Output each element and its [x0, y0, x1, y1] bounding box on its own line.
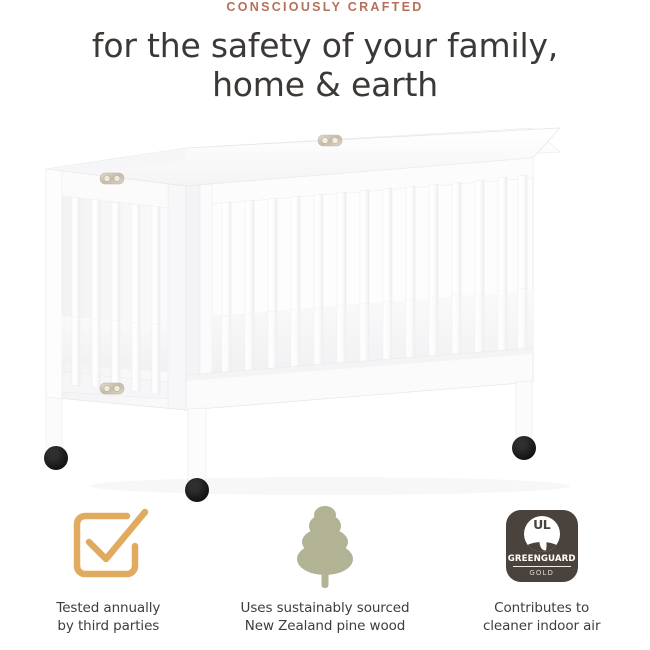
feature-caption-air: Contributes to cleaner indoor air: [483, 600, 600, 635]
crib-leg-left: [46, 397, 62, 450]
crib-illustration-icon: [0, 120, 650, 505]
feature-icon-wrap: [65, 500, 151, 592]
greenguard-gold-badge-icon: UL GREENGUARD GOLD: [506, 510, 578, 582]
checkbox-check-icon: [65, 504, 151, 588]
feature-icon-wrap: UL GREENGUARD GOLD: [506, 500, 578, 592]
promo-panel: CONSCIOUSLY CRAFTED for the safety of yo…: [0, 0, 650, 650]
eyebrow-label: CONSCIOUSLY CRAFTED: [0, 0, 650, 14]
feature-item-tested: Tested annually by third parties: [0, 500, 217, 650]
feature-caption-line-2: cleaner indoor air: [483, 618, 600, 636]
tree-icon: [293, 502, 357, 590]
feature-caption-wood: Uses sustainably sourced New Zealand pin…: [241, 600, 410, 635]
feature-list: Tested annually by third parties Us: [0, 500, 650, 650]
greenguard-label: GREENGUARD: [508, 554, 576, 564]
page-title-line-1: for the safety of your family,: [92, 26, 558, 65]
page-title-line-2: home & earth: [0, 65, 650, 104]
product-image: [0, 120, 650, 505]
ul-mark-label: UL: [524, 518, 560, 531]
feature-caption-line-1: Contributes to: [494, 600, 589, 616]
badge-divider: [513, 566, 571, 567]
feature-caption-line-2: by third parties: [56, 618, 160, 636]
greenguard-tier-label: GOLD: [529, 569, 554, 577]
crib-end-panel: [46, 169, 186, 410]
feature-caption-line-1: Uses sustainably sourced: [241, 600, 410, 616]
feature-caption-line-2: New Zealand pine wood: [241, 618, 410, 636]
feature-item-air: UL GREENGUARD GOLD Contributes to cleane…: [433, 500, 650, 650]
crib-front-panel: [186, 158, 533, 410]
feature-item-wood: Uses sustainably sourced New Zealand pin…: [217, 500, 434, 650]
feature-icon-wrap: [293, 500, 357, 592]
ul-mark-icon: UL: [524, 516, 560, 552]
crib-leg-center: [188, 408, 206, 481]
crib-leg-right: [516, 381, 532, 439]
feature-caption-tested: Tested annually by third parties: [56, 600, 160, 635]
page-title: for the safety of your family, home & ea…: [0, 26, 650, 104]
feature-caption-line-1: Tested annually: [56, 600, 160, 616]
